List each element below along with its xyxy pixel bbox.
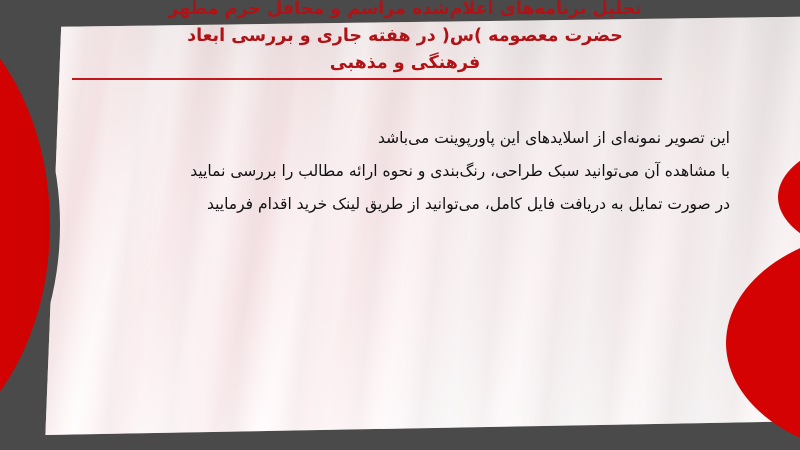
title-line-2: حضرت معصومه )س( در هفته جاری و بررسی ابع… [60,23,750,50]
title-line-3: فرهنگی و مذهبی [60,50,750,77]
slide-title: تحلیل برنامه‌های اعلام‌شده مراسم و محافل… [60,0,750,77]
presentation-slide: تحلیل برنامه‌های اعلام‌شده مراسم و محافل… [0,0,800,450]
title-line-1: تحلیل برنامه‌های اعلام‌شده مراسم و محافل… [60,0,750,23]
slide-body-text: این تصویر نمونه‌ای از اسلایدهای این پاور… [90,122,730,221]
body-line-2: با مشاهده آن می‌توانید سبک طراحی، رنگ‌بن… [90,155,730,188]
body-line-1: این تصویر نمونه‌ای از اسلایدهای این پاور… [90,122,730,155]
title-divider-rule [72,78,662,80]
body-line-3: در صورت تمایل به دریافت فایل کامل، می‌تو… [90,188,730,221]
